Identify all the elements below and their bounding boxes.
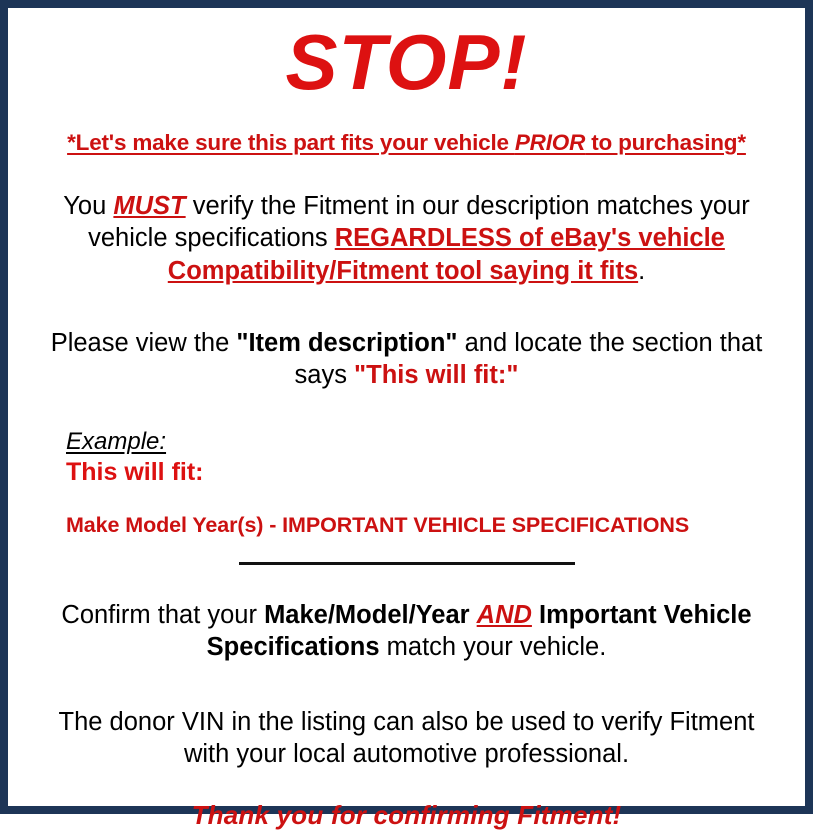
make-model-year-emphasis: Make/Model/Year bbox=[264, 601, 470, 629]
example-label-row: Example: bbox=[66, 428, 789, 456]
must-paragraph-part3: . bbox=[638, 257, 645, 285]
example-this-will-fit-heading: This will fit: bbox=[66, 458, 789, 487]
confirm-paragraph-part1: Confirm that your bbox=[61, 601, 264, 629]
confirm-paragraph-part2: match your vehicle. bbox=[380, 633, 607, 661]
item-description-emphasis: "Item description" bbox=[236, 329, 457, 357]
and-emphasis: AND bbox=[477, 601, 532, 629]
view-description-paragraph: Please view the "Item description" and l… bbox=[24, 327, 789, 392]
vin-paragraph: The donor VIN in the listing can also be… bbox=[24, 706, 789, 771]
must-emphasis: MUST bbox=[113, 192, 185, 220]
example-spec-line: Make Model Year(s) - IMPORTANT VEHICLE S… bbox=[66, 513, 789, 538]
fitment-notice-body: STOP! *Let's make sure this part fits yo… bbox=[8, 8, 805, 806]
must-paragraph-part1: You bbox=[63, 192, 113, 220]
example-label: Example: bbox=[66, 428, 166, 456]
confirm-paragraph: Confirm that your Make/Model/Year AND Im… bbox=[24, 599, 789, 664]
must-verify-paragraph: You MUST verify the Fitment in our descr… bbox=[24, 190, 789, 287]
tagline: *Let's make sure this part fits your veh… bbox=[24, 130, 789, 156]
stop-headline: STOP! bbox=[24, 22, 789, 104]
fitment-notice-frame: STOP! *Let's make sure this part fits yo… bbox=[0, 0, 813, 814]
divider bbox=[24, 562, 789, 565]
tagline-before: *Let's make sure this part fits your veh… bbox=[67, 130, 515, 155]
tagline-after: to purchasing* bbox=[585, 130, 746, 155]
tagline-prior-emphasis: PRIOR bbox=[515, 130, 585, 155]
view-paragraph-part1: Please view the bbox=[51, 329, 237, 357]
thank-you-line: Thank you for confirming Fitment! bbox=[24, 800, 789, 831]
this-will-fit-quote: "This will fit:" bbox=[354, 361, 518, 389]
divider-rule bbox=[239, 562, 575, 565]
example-block: Example: This will fit: Make Model Year(… bbox=[24, 428, 789, 538]
